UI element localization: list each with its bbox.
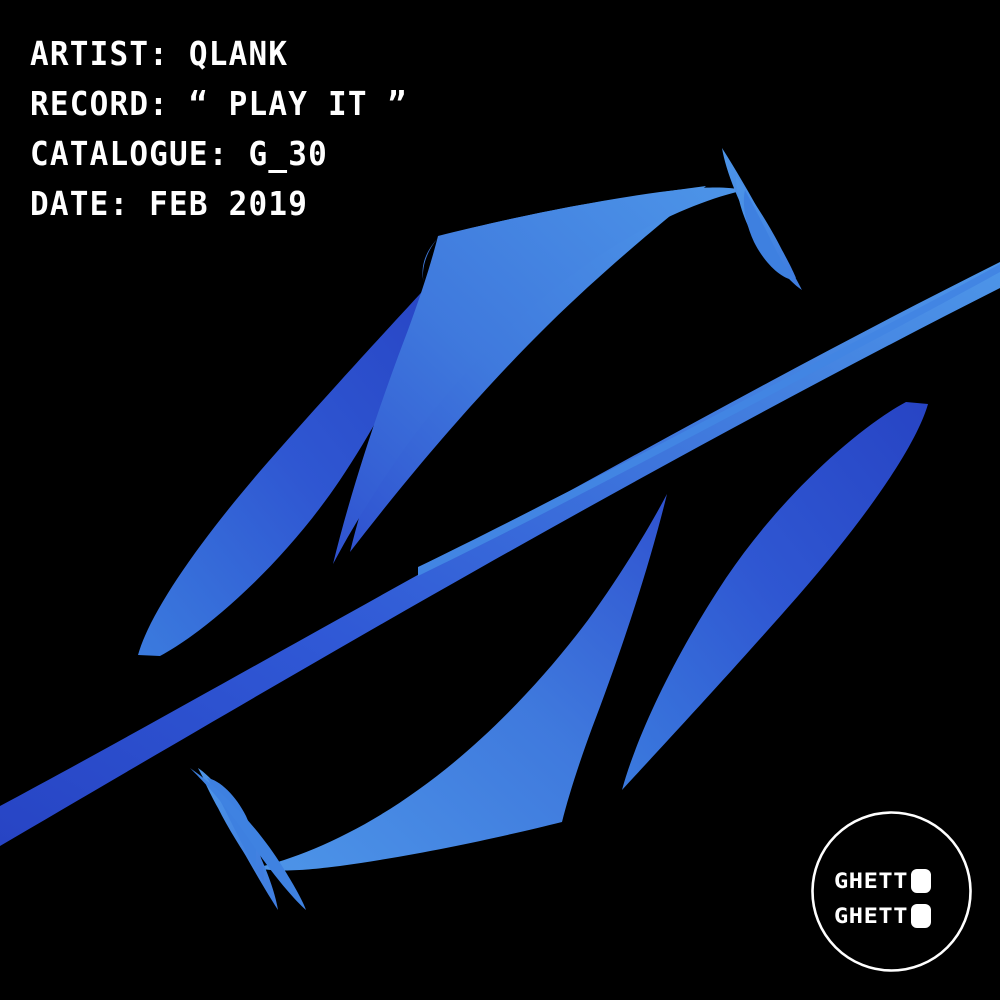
logo-dot-icon-1 xyxy=(911,869,931,893)
ghetto-ghetto-logo[interactable]: GHETT GHETT xyxy=(810,810,973,973)
credit-line-date: DATE: FEB 2019 xyxy=(30,178,407,231)
credit-line-catalogue: CATALOGUE: G_30 xyxy=(30,128,407,181)
logo-text-line-2: GHETT xyxy=(834,904,908,928)
credit-line-record: RECORD: “ PLAY IT ” xyxy=(30,78,407,131)
credit-line-artist: ARTIST: QLANK xyxy=(30,28,407,81)
album-cover: ARTIST: QLANK RECORD: “ PLAY IT ” CATALO… xyxy=(0,0,1000,1000)
logo-text-line-1: GHETT xyxy=(834,869,908,893)
logo-dot-icon-2 xyxy=(911,904,931,928)
credits-block: ARTIST: QLANK RECORD: “ PLAY IT ” CATALO… xyxy=(30,28,407,228)
